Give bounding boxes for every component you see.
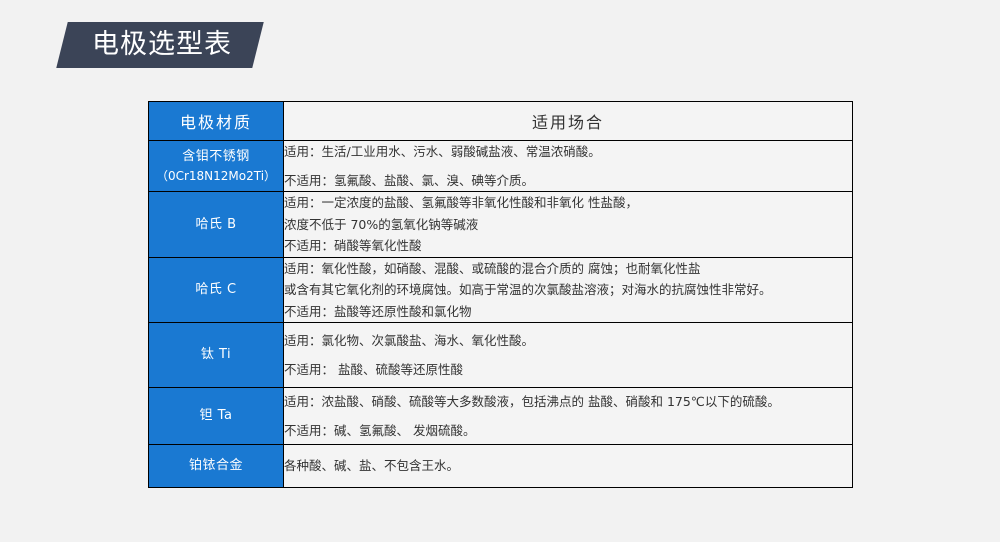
table-row: 哈氏 C 适用：氧化性酸，如硝酸、混酸、或硫酸的混合介质的 腐蚀；也耐氧化性盐 … <box>149 257 853 323</box>
usage-line: 适用：一定浓度的盐酸、氢氟酸等非氧化性酸和非氧化 性盐酸， <box>284 192 852 214</box>
column-header-usage: 适用场合 <box>284 102 853 141</box>
page-title: 电极选型表 <box>92 22 232 68</box>
cell-usage: 各种酸、碱、盐、不包含王水。 <box>284 445 853 488</box>
cell-usage: 适用：氯化物、次氯酸盐、海水、氧化性酸。 不适用： 盐酸、硫酸等还原性酸 <box>284 323 853 388</box>
material-name: 含钼不锈钢 <box>182 149 250 164</box>
usage-line: 或含有其它氧化剂的环境腐蚀。如高于常温的次氯酸盐溶液；对海水的抗腐蚀性非常好。 <box>284 279 852 301</box>
table-row: 钛 Ti 适用：氯化物、次氯酸盐、海水、氧化性酸。 不适用： 盐酸、硫酸等还原性… <box>149 323 853 388</box>
page-title-banner: 电极选型表 <box>62 22 258 68</box>
cell-material: 钽 Ta <box>149 388 284 445</box>
cell-usage: 适用：浓盐酸、硝酸、硫酸等大多数酸液，包括沸点的 盐酸、硝酸和 175℃以下的硫… <box>284 388 853 445</box>
electrode-selection-table-wrap: 电极材质 适用场合 含钼不锈钢 （0Cr18N12Mo2Ti） 适用：生活/工业… <box>148 101 852 488</box>
electrode-selection-table: 电极材质 适用场合 含钼不锈钢 （0Cr18N12Mo2Ti） 适用：生活/工业… <box>148 101 853 488</box>
cell-material: 铂铱合金 <box>149 445 284 488</box>
usage-line: 适用：浓盐酸、硝酸、硫酸等大多数酸液，包括沸点的 盐酸、硝酸和 175℃以下的硫… <box>284 391 852 413</box>
usage-line: 不适用：氢氟酸、盐酸、氯、溴、碘等介质。 <box>284 170 852 192</box>
cell-material: 哈氏 C <box>149 257 284 323</box>
usage-line: 适用：氯化物、次氯酸盐、海水、氧化性酸。 <box>284 330 852 352</box>
usage-line: 适用：生活/工业用水、污水、弱酸碱盐液、常温浓硝酸。 <box>284 141 852 163</box>
cell-usage: 适用：生活/工业用水、污水、弱酸碱盐液、常温浓硝酸。 不适用：氢氟酸、盐酸、氯、… <box>284 141 853 192</box>
table-row: 含钼不锈钢 （0Cr18N12Mo2Ti） 适用：生活/工业用水、污水、弱酸碱盐… <box>149 141 853 192</box>
material-name: 哈氏 C <box>195 282 236 297</box>
table-row: 钽 Ta 适用：浓盐酸、硝酸、硫酸等大多数酸液，包括沸点的 盐酸、硝酸和 175… <box>149 388 853 445</box>
cell-material: 含钼不锈钢 （0Cr18N12Mo2Ti） <box>149 141 284 192</box>
usage-line: 浓度不低于 70%的氢氧化钠等碱液 <box>284 214 852 236</box>
usage-line: 适用：氧化性酸，如硝酸、混酸、或硫酸的混合介质的 腐蚀；也耐氧化性盐 <box>284 258 852 280</box>
usage-line: 各种酸、碱、盐、不包含王水。 <box>284 455 852 477</box>
table-row: 铂铱合金 各种酸、碱、盐、不包含王水。 <box>149 445 853 488</box>
material-name: 哈氏 B <box>195 217 236 232</box>
table-row: 哈氏 B 适用：一定浓度的盐酸、氢氟酸等非氧化性酸和非氧化 性盐酸， 浓度不低于… <box>149 192 853 258</box>
column-header-material: 电极材质 <box>149 102 284 141</box>
table-header-row: 电极材质 适用场合 <box>149 102 853 141</box>
cell-material: 钛 Ti <box>149 323 284 388</box>
material-name: 铂铱合金 <box>189 458 243 473</box>
cell-usage: 适用：氧化性酸，如硝酸、混酸、或硫酸的混合介质的 腐蚀；也耐氧化性盐 或含有其它… <box>284 257 853 323</box>
usage-line: 不适用：盐酸等还原性酸和氯化物 <box>284 301 852 323</box>
usage-line: 不适用：碱、氢氟酸、 发烟硫酸。 <box>284 420 852 442</box>
cell-material: 哈氏 B <box>149 192 284 258</box>
material-name: 钽 Ta <box>200 408 233 423</box>
cell-usage: 适用：一定浓度的盐酸、氢氟酸等非氧化性酸和非氧化 性盐酸， 浓度不低于 70%的… <box>284 192 853 258</box>
material-name: 钛 Ti <box>201 347 231 362</box>
usage-line: 不适用：硝酸等氧化性酸 <box>284 235 852 257</box>
material-code: （0Cr18N12Mo2Ti） <box>149 167 283 185</box>
page-title-shape: 电极选型表 <box>56 22 263 68</box>
usage-line: 不适用： 盐酸、硫酸等还原性酸 <box>284 359 852 381</box>
